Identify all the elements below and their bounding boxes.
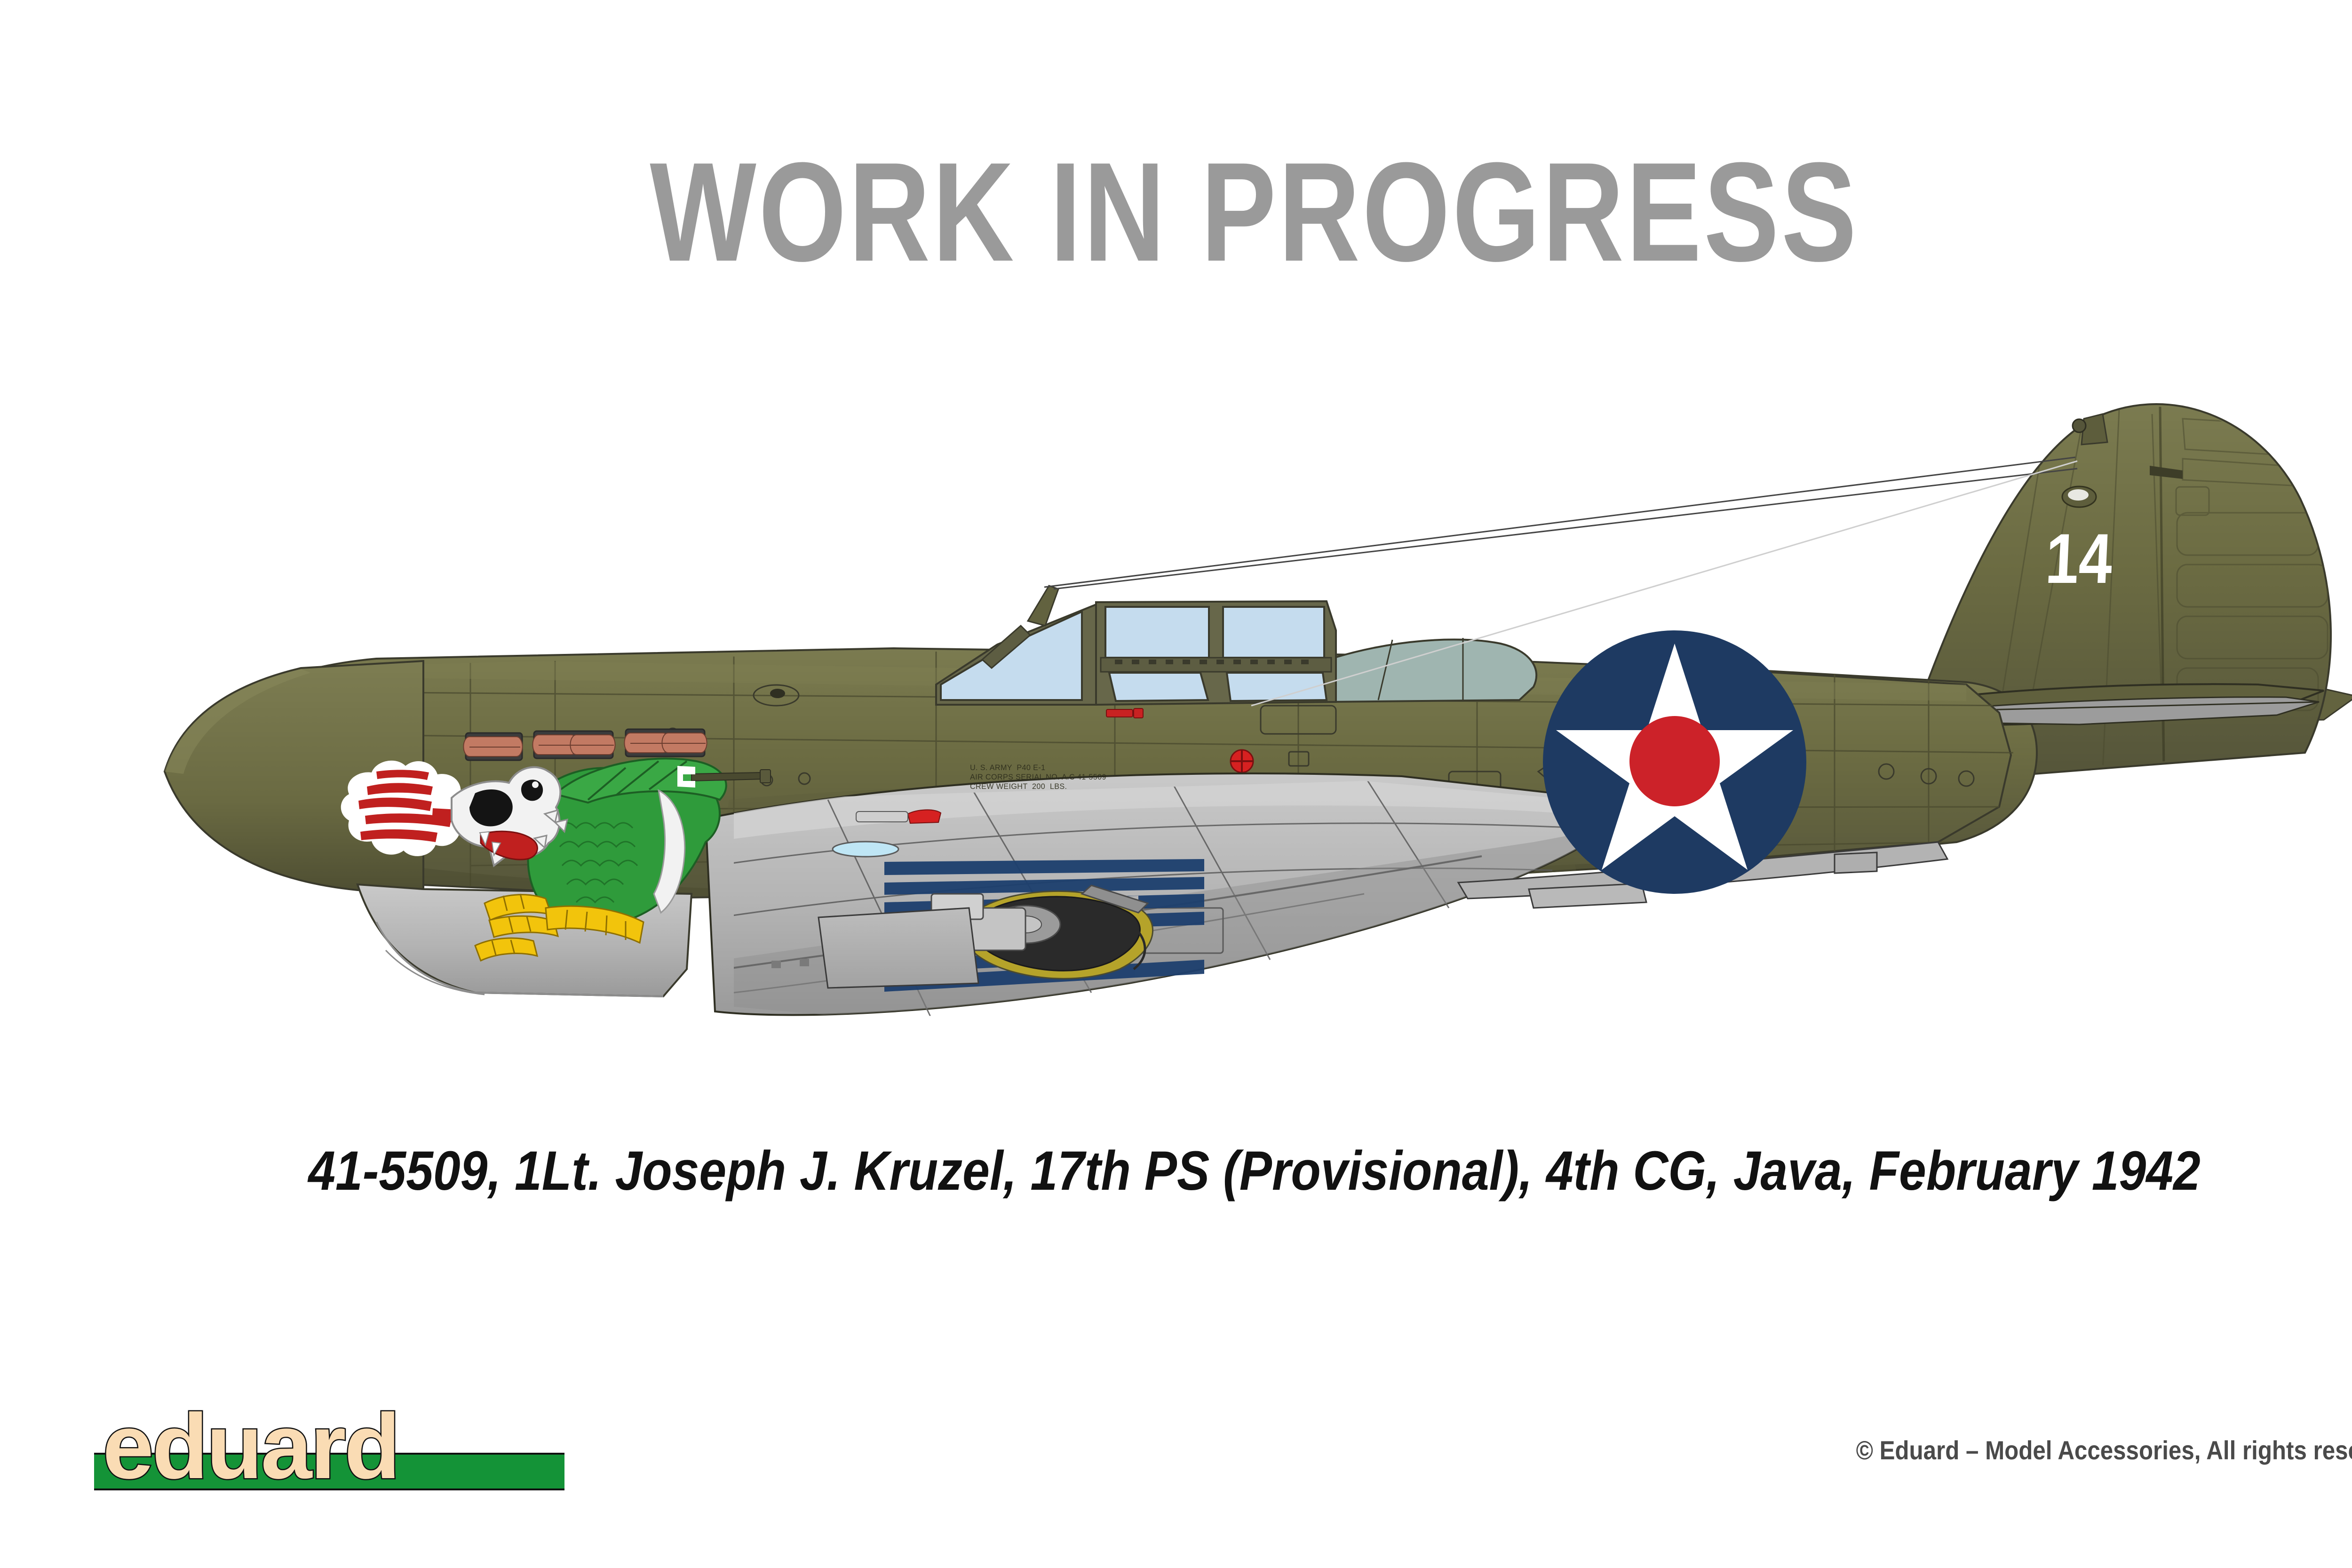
canvas: WORK IN PROGRESS — [0, 0, 2352, 1568]
national-insignia — [1543, 630, 1806, 894]
aircraft-illustration — [0, 0, 2352, 1568]
copyright-notice: © Eduard – Model Accessories, All rights… — [1856, 1437, 2352, 1464]
logo-wordmark: eduard — [103, 1401, 573, 1492]
fuselage-stencil: U. S. ARMY P40 E-1 AIR CORPS SERIAL NO. … — [970, 763, 1106, 791]
exhaust-stacks — [463, 729, 707, 760]
canopy — [936, 586, 1536, 718]
eduard-logo[interactable]: eduard — [94, 1404, 564, 1496]
caption: 41-5509, 1Lt. Joseph J. Kruzel, 17th PS … — [151, 1143, 2352, 1199]
tail-number: 14 — [2044, 523, 2114, 594]
